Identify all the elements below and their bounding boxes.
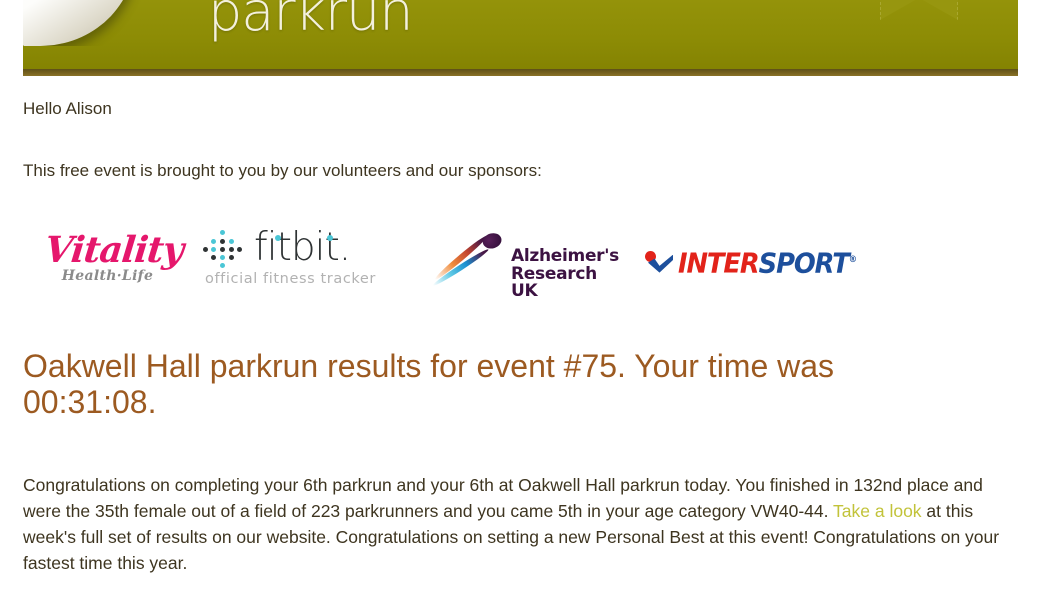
result-paragraph: Congratulations on completing your 6th p… xyxy=(23,472,1008,576)
page-curl-icon xyxy=(23,0,141,46)
email-header-banner: parkrun xyxy=(23,0,1018,69)
email-body: parkrun Hello Alison This free event is … xyxy=(0,0,1050,590)
vitality-wordmark: Vitality xyxy=(43,232,172,268)
greeting-text: Hello Alison xyxy=(23,99,112,119)
sponsor-logo-intersport[interactable]: INTERSPORT® xyxy=(645,246,871,277)
fitbit-dot-grid-icon xyxy=(203,228,243,268)
aruk-wordmark: Alzheimer's Research UK xyxy=(511,248,619,301)
header-underline xyxy=(23,69,1018,76)
ribbon-icon xyxy=(880,0,958,20)
parkrun-logo[interactable]: parkrun xyxy=(208,0,413,43)
fitbit-tagline: official fitness tracker xyxy=(205,271,383,287)
fitbit-wordmark: fitbit. xyxy=(254,228,350,268)
result-heading: Oakwell Hall parkrun results for event #… xyxy=(23,348,903,420)
intersport-check-icon xyxy=(645,251,673,273)
sponsor-logo-vitality[interactable]: Vitality Health·Life xyxy=(45,232,170,285)
curl-paper-shape xyxy=(23,0,140,46)
fitbit-i-dot xyxy=(275,235,281,241)
comet-swoosh-icon xyxy=(431,230,507,286)
sponsor-logo-fitbit[interactable]: fitbit. official fitness tracker xyxy=(203,228,383,287)
intro-text: This free event is brought to you by our… xyxy=(23,161,542,181)
aruk-line-3: UK xyxy=(511,283,619,301)
sponsor-logo-strip: Vitality Health·Life xyxy=(23,222,923,318)
take-a-look-link[interactable]: Take a look xyxy=(833,501,922,521)
intersport-word-sport: SPORT xyxy=(759,246,849,279)
intersport-wordmark: INTERSPORT® xyxy=(678,246,856,277)
fitbit-i-dot xyxy=(327,235,333,241)
intersport-trademark: ® xyxy=(849,255,856,265)
aruk-line-1: Alzheimer's xyxy=(511,248,619,266)
intersport-word-inter: INTER xyxy=(678,246,759,279)
